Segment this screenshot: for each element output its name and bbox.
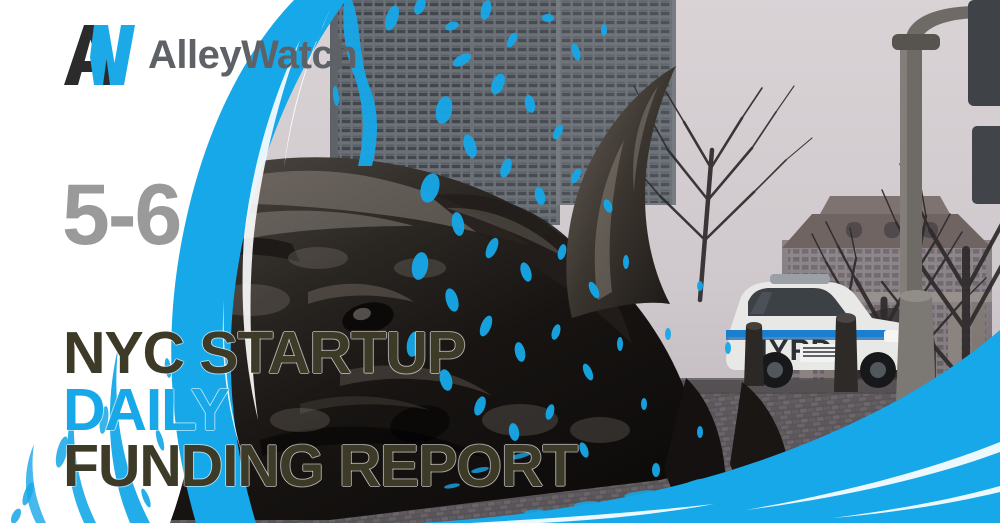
headline-line-3: FUNDING REPORT <box>63 438 577 495</box>
aw-monogram-icon <box>64 19 140 91</box>
date-label: 5-6 <box>62 172 180 258</box>
alleywatch-logo[interactable]: AlleyWatch <box>64 18 357 92</box>
alleywatch-wordmark: AlleyWatch <box>148 35 357 75</box>
headline-line-1: NYC STARTUP <box>63 325 577 382</box>
poster-canvas: NYPD <box>0 0 1000 523</box>
logo-text-alley: Alley <box>148 33 241 77</box>
logo-text-watch: Watch <box>241 33 357 77</box>
headline-block: NYC STARTUP DAILY FUNDING REPORT <box>63 325 577 495</box>
headline-line-2: DAILY <box>63 382 577 439</box>
